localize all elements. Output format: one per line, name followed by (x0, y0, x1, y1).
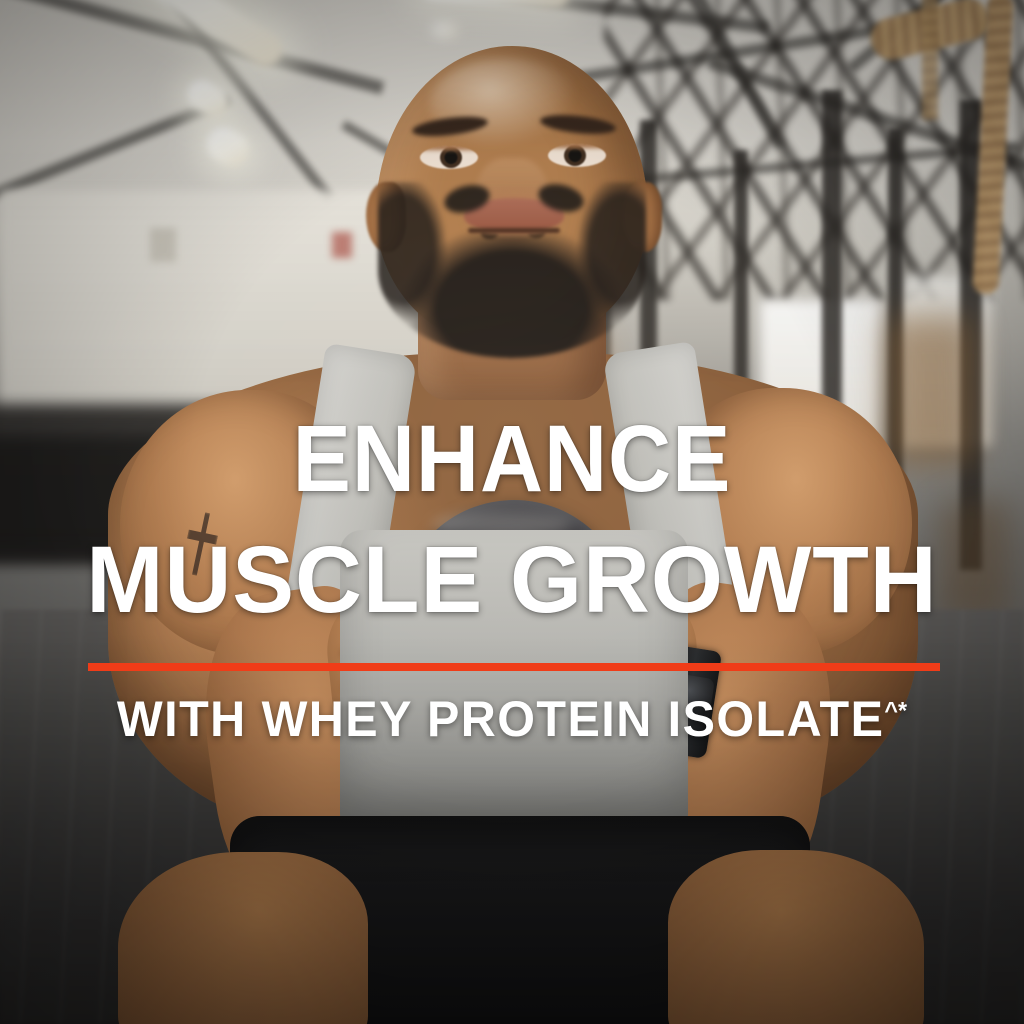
advertisement-canvas: ENHANCE MUSCLE GROWTH WITH WHEY PROTEIN … (0, 0, 1024, 1024)
subheadline-text: WITH WHEY PROTEIN ISOLATE (117, 691, 884, 747)
headline-line-1: ENHANCE (41, 412, 983, 507)
headline-line-2: MUSCLE GROWTH (13, 533, 1011, 628)
ad-copy-overlay: ENHANCE MUSCLE GROWTH WITH WHEY PROTEIN … (0, 0, 1024, 1024)
subheadline-superscript: ^* (884, 697, 907, 724)
accent-divider-rule (88, 663, 940, 671)
subheadline: WITH WHEY PROTEIN ISOLATE^* (15, 694, 1008, 744)
